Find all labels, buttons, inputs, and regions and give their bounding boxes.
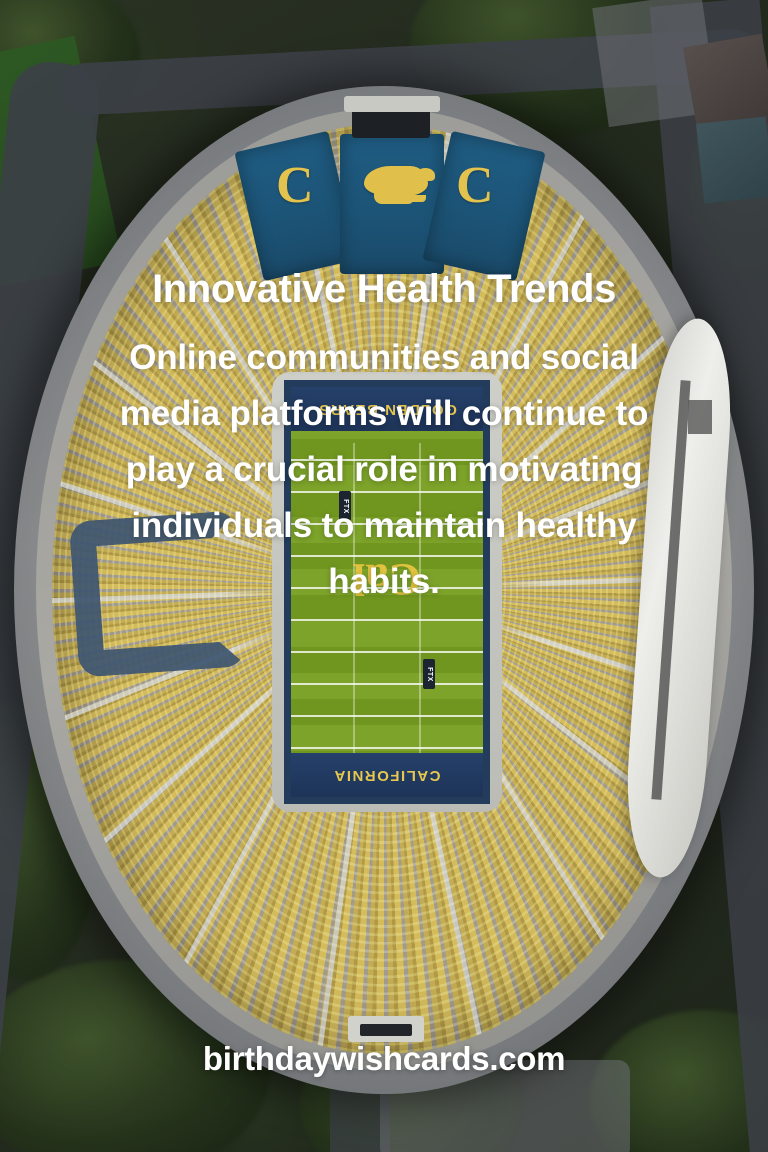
quote-card: C C GOLDEN BEARS xyxy=(0,0,768,1152)
page-title: Innovative Health Trends xyxy=(0,268,768,310)
body-text: Online communities and social media plat… xyxy=(84,330,684,610)
site-url-footer: birthdaywishcards.com xyxy=(0,1040,768,1078)
text-overlay: Innovative Health Trends Online communit… xyxy=(0,0,768,1152)
